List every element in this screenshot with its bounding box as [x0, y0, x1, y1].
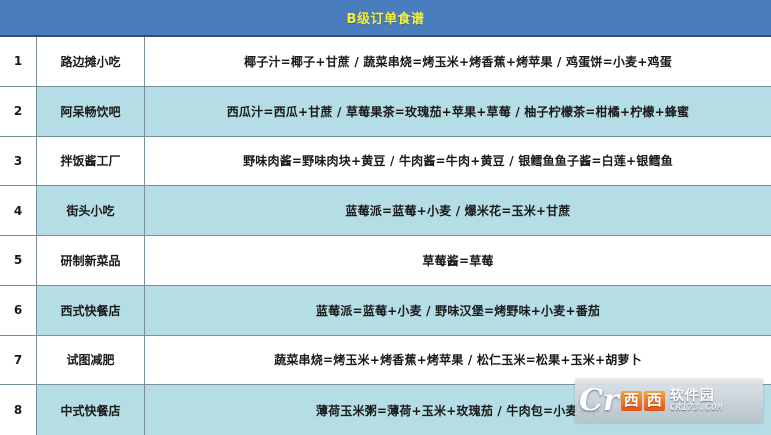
- row-shop-cell: 试图减肥: [37, 336, 145, 385]
- row-shop-cell: 拌饭酱工厂: [37, 137, 145, 186]
- row-recipe-cell: 西瓜汁=西瓜+甘蔗 / 草莓果茶=玫瑰茄+苹果+草莓 / 柚子柠檬茶=柑橘+柠檬…: [145, 87, 771, 136]
- recipe-table-screenshot: B级订单食谱 1 路边摊小吃 椰子汁=椰子+甘蔗 / 蔬菜串烧=烤玉米+烤香蕉+…: [0, 0, 771, 435]
- row-recipe-cell: 草莓酱=草莓: [145, 236, 771, 285]
- table-row: 8 中式快餐店 薄荷玉米粥=薄荷+玉米+玫瑰茄 / 牛肉包=小麦+牛: [0, 385, 771, 435]
- row-shop-cell: 街头小吃: [37, 186, 145, 235]
- table-row: 2 阿呆畅饮吧 西瓜汁=西瓜+甘蔗 / 草莓果茶=玫瑰茄+苹果+草莓 / 柚子柠…: [0, 87, 771, 137]
- row-shop-cell: 西式快餐店: [37, 286, 145, 335]
- row-index-cell: 4: [0, 186, 37, 235]
- row-recipe-cell: 蓝莓派=蓝莓+小麦 / 爆米花=玉米+甘蔗: [145, 186, 771, 235]
- row-index-cell: 2: [0, 87, 37, 136]
- row-index-cell: 3: [0, 137, 37, 186]
- row-shop-cell: 阿呆畅饮吧: [37, 87, 145, 136]
- row-recipe-cell: 野味肉酱=野味肉块+黄豆 / 牛肉酱=牛肉+黄豆 / 银鳕鱼鱼子酱=白莲+银鳕鱼: [145, 137, 771, 186]
- table-row: 4 街头小吃 蓝莓派=蓝莓+小麦 / 爆米花=玉米+甘蔗: [0, 186, 771, 236]
- table-row: 1 路边摊小吃 椰子汁=椰子+甘蔗 / 蔬菜串烧=烤玉米+烤香蕉+烤苹果 / 鸡…: [0, 37, 771, 87]
- row-recipe-cell: 蓝莓派=蓝莓+小麦 / 野味汉堡=烤野味+小麦+番茄: [145, 286, 771, 335]
- row-index-cell: 6: [0, 286, 37, 335]
- table-row: 6 西式快餐店 蓝莓派=蓝莓+小麦 / 野味汉堡=烤野味+小麦+番茄: [0, 286, 771, 336]
- table-body: 1 路边摊小吃 椰子汁=椰子+甘蔗 / 蔬菜串烧=烤玉米+烤香蕉+烤苹果 / 鸡…: [0, 37, 771, 435]
- row-index-cell: 5: [0, 236, 37, 285]
- row-index-cell: 1: [0, 37, 37, 86]
- row-shop-cell: 路边摊小吃: [37, 37, 145, 86]
- row-recipe-cell: 薄荷玉米粥=薄荷+玉米+玫瑰茄 / 牛肉包=小麦+牛: [145, 385, 771, 435]
- table-row: 5 研制新菜品 草莓酱=草莓: [0, 236, 771, 286]
- table-title-bar: B级订单食谱: [0, 0, 771, 37]
- table-row: 7 试图减肥 蔬菜串烧=烤玉米+烤香蕉+烤苹果 / 松仁玉米=松果+玉米+胡萝卜: [0, 336, 771, 386]
- row-shop-cell: 研制新菜品: [37, 236, 145, 285]
- row-shop-cell: 中式快餐店: [37, 385, 145, 435]
- row-index-cell: 7: [0, 336, 37, 385]
- row-index-cell: 8: [0, 385, 37, 435]
- table-row: 3 拌饭酱工厂 野味肉酱=野味肉块+黄豆 / 牛肉酱=牛肉+黄豆 / 银鳕鱼鱼子…: [0, 137, 771, 187]
- row-recipe-cell: 蔬菜串烧=烤玉米+烤香蕉+烤苹果 / 松仁玉米=松果+玉米+胡萝卜: [145, 336, 771, 385]
- page-title: B级订单食谱: [347, 8, 425, 27]
- row-recipe-cell: 椰子汁=椰子+甘蔗 / 蔬菜串烧=烤玉米+烤香蕉+烤苹果 / 鸡蛋饼=小麦+鸡蛋: [145, 37, 771, 86]
